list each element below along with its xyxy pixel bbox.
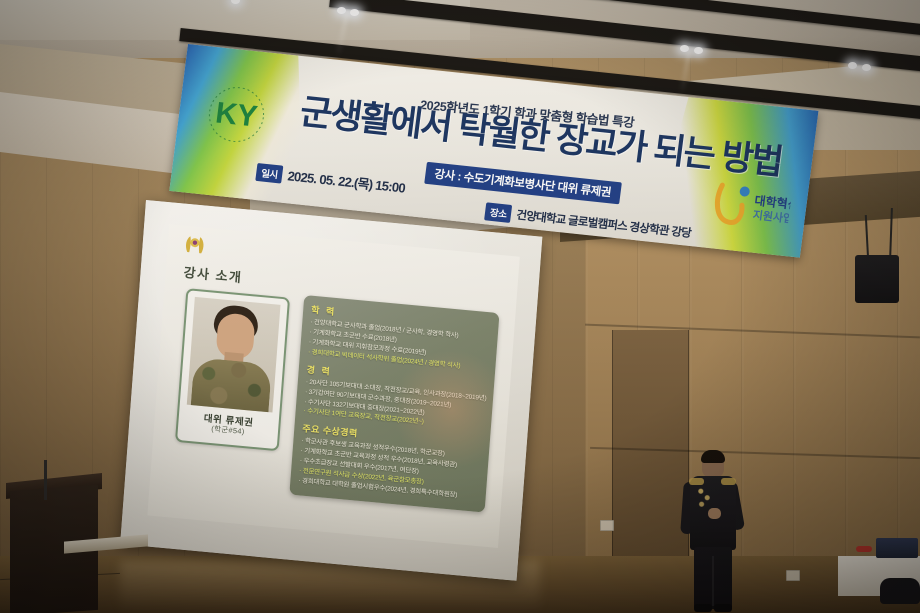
banner-speaker-line: 강사 : 수도기계화보병사단 대위 류제권 bbox=[424, 162, 621, 204]
banner-date-tag: 일시 bbox=[255, 162, 284, 183]
officer-shoe bbox=[694, 604, 712, 612]
instructor-info-card: 학 력 건양대학교 군사학과 졸업(2018년 / 군사학, 경영학 학사) 기… bbox=[289, 295, 499, 513]
ceiling-speaker bbox=[855, 255, 899, 303]
presentation-slide: 강사 소개 대위 류제권 (학군#54) 학 력 건양대학교 군사학과 졸업(2… bbox=[147, 224, 519, 548]
banner-date-value: 2025. 05. 22.(목) 15:00 bbox=[287, 165, 407, 196]
ceiling-light bbox=[694, 47, 703, 54]
projector-device bbox=[876, 538, 918, 558]
officer-hand bbox=[708, 508, 721, 519]
ceiling-light bbox=[862, 64, 871, 71]
officer-hair bbox=[701, 450, 725, 463]
officer-shoulder-board bbox=[721, 478, 736, 485]
bag bbox=[880, 578, 920, 604]
military-officer-speaker bbox=[672, 452, 762, 613]
wall-outlet bbox=[600, 520, 614, 531]
instructor-photo-card: 대위 류제권 (학군#54) bbox=[175, 288, 290, 451]
wall-outlet bbox=[786, 570, 800, 581]
officer-shoulder-board bbox=[689, 478, 704, 485]
microphone-stand bbox=[44, 460, 47, 500]
ky-university-logo: KY bbox=[197, 76, 275, 153]
officer-shoe bbox=[714, 604, 732, 612]
army-emblem-icon bbox=[183, 234, 206, 256]
officer-leg-seam bbox=[712, 556, 714, 606]
svg-text:KY: KY bbox=[214, 96, 260, 133]
banner-venue-tag: 장소 bbox=[484, 202, 513, 223]
instructor-portrait bbox=[187, 297, 281, 413]
projection-screen: 강사 소개 대위 류제권 (학군#54) 학 력 건양대학교 군사학과 졸업(2… bbox=[120, 200, 542, 581]
ceiling-light bbox=[848, 62, 857, 69]
ceiling-light bbox=[350, 9, 359, 16]
portrait-camo-uniform bbox=[191, 357, 272, 412]
lecture-hall-photo: KY 2025학년도 1학기 학과 맞춤형 학습법 특강 군생활에서 탁월한 장… bbox=[0, 0, 920, 613]
slide-title: 강사 소개 bbox=[183, 262, 243, 286]
red-object bbox=[856, 546, 872, 552]
university-innovation-logo: 대학혁신 지원사업 bbox=[707, 178, 793, 238]
projector-glare bbox=[388, 344, 500, 475]
